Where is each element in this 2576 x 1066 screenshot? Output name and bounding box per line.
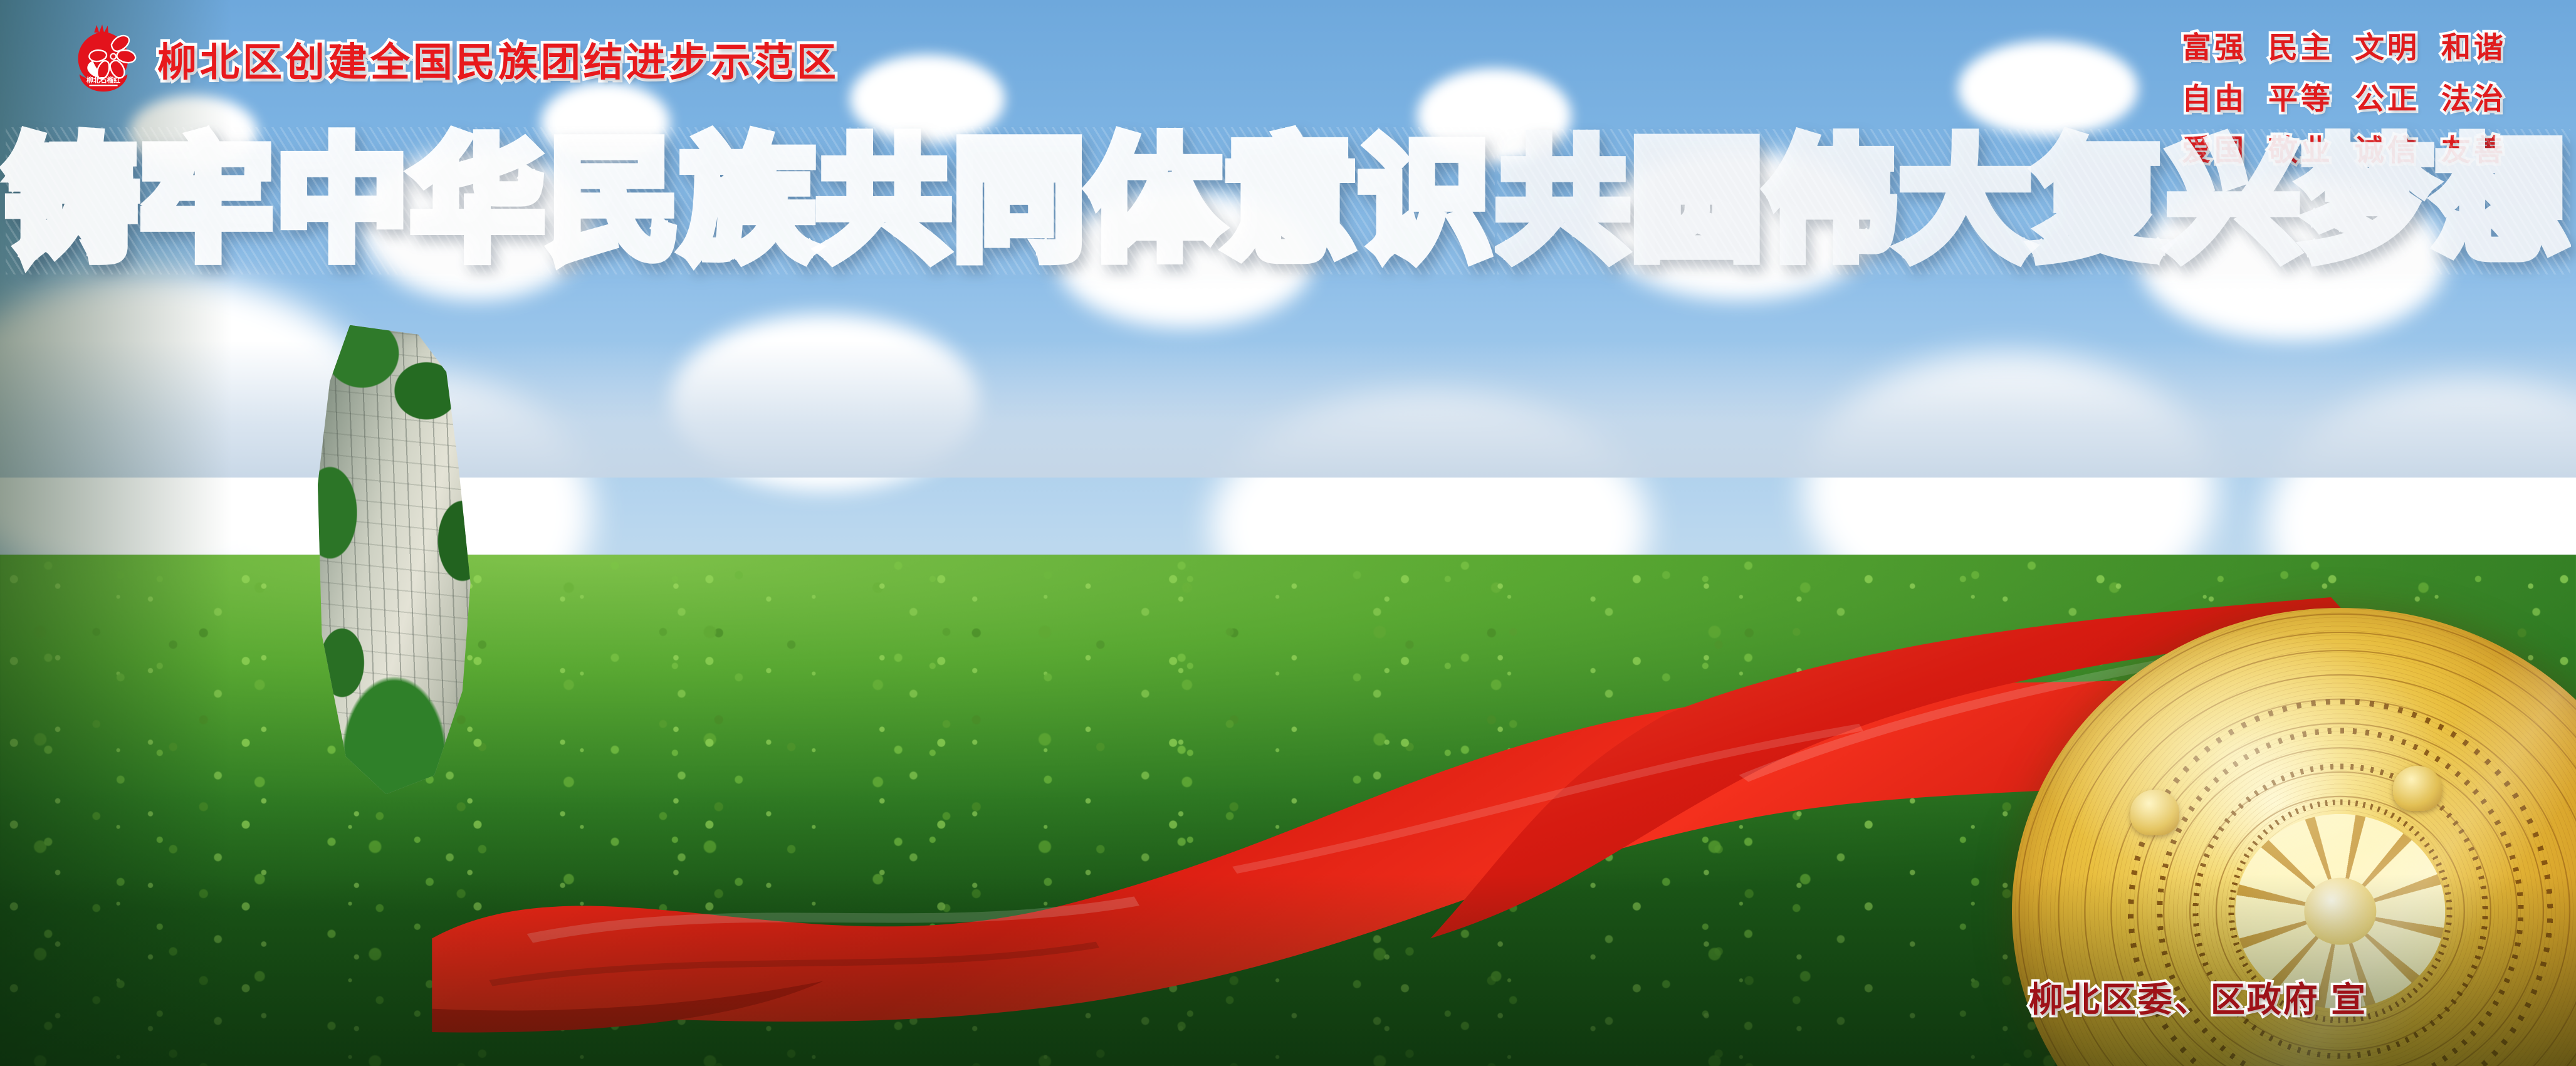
- headline-line-2: 共圆伟大复兴梦想: [1497, 133, 2570, 270]
- headline-block: 铸牢中华民族共同体意识 共圆伟大复兴梦想: [0, 102, 2576, 271]
- core-value-word: 文明: [2355, 23, 2420, 66]
- core-value-word: 和谐: [2441, 23, 2506, 66]
- logo-ribbon-text: 柳北石榴红: [86, 75, 120, 84]
- propaganda-banner: 柳北石榴红 柳北区创建全国民族团结进步示范区 富强 民主 文明 和谐 自由 平等…: [0, 0, 2576, 1066]
- attribution-text: 柳北区委、区政府 宣: [2029, 971, 2367, 1022]
- core-value-word: 民主: [2268, 23, 2333, 66]
- headline-line-1: 铸牢中华民族共同体意识: [6, 132, 1495, 271]
- core-values-row: 富强 民主 文明 和谐: [2182, 23, 2506, 66]
- headline-line-2-text: 共圆伟大复兴梦想: [1497, 129, 2570, 274]
- brand-title: 柳北区创建全国民族团结进步示范区: [157, 31, 839, 88]
- pomegranate-flower-emblem-icon: 柳北石榴红: [67, 23, 141, 97]
- core-value-word: 富强: [2182, 23, 2247, 66]
- brand-lockup: 柳北石榴红 柳北区创建全国民族团结进步示范区: [67, 23, 839, 97]
- headline-line-1-text: 铸牢中华民族共同体意识: [6, 127, 1495, 274]
